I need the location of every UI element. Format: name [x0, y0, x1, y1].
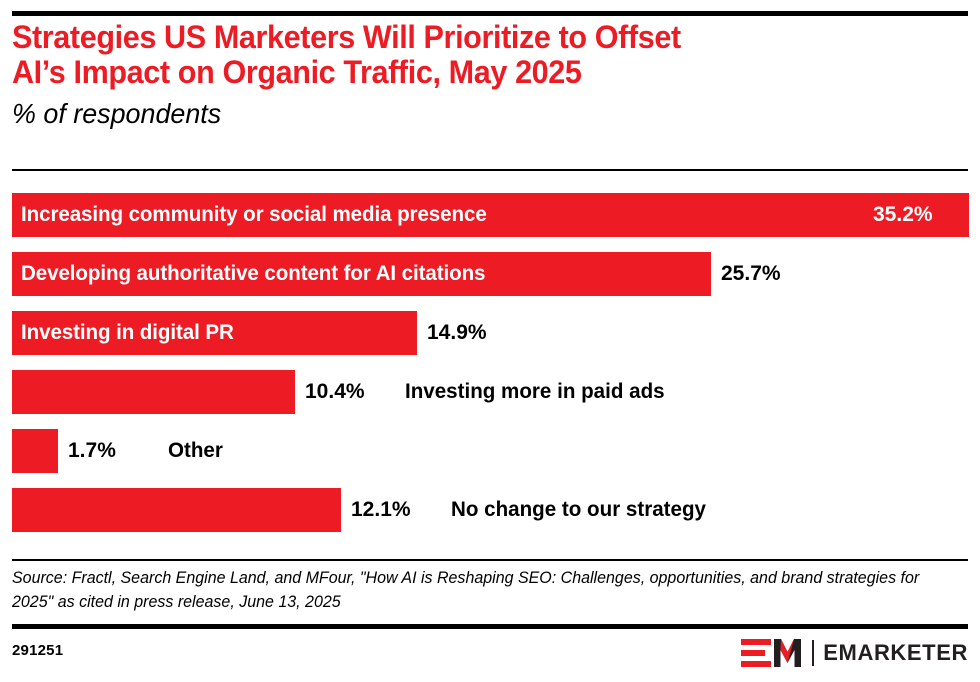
bar-category-label: Developing authoritative content for AI …	[21, 252, 485, 296]
logo-wordmark: EMARKETER	[823, 642, 968, 664]
bar-segment[interactable]	[12, 429, 58, 473]
bar-value-label: 25.7%	[721, 252, 781, 296]
bar-value-label: 12.1%	[351, 488, 411, 532]
bar-category-label: Investing more in paid ads	[405, 370, 665, 414]
bar-row[interactable]: Developing authoritative content for AI …	[12, 252, 968, 296]
bar-value-label: 1.7%	[68, 429, 116, 473]
bar-row[interactable]: 12.1%No change to our strategy	[12, 488, 968, 532]
bar-value-label: 10.4%	[305, 370, 365, 414]
bar-segment[interactable]	[12, 488, 341, 532]
bar-row[interactable]: 1.7%Other	[12, 429, 968, 473]
bar-category-label: Investing in digital PR	[21, 311, 234, 355]
bar-row[interactable]: 10.4%Investing more in paid ads	[12, 370, 968, 414]
source-divider	[12, 559, 968, 561]
bar-category-label: Increasing community or social media pre…	[21, 193, 487, 237]
bar-category-label: No change to our strategy	[451, 488, 706, 532]
bar-segment[interactable]	[12, 370, 295, 414]
bar-row[interactable]: Investing in digital PR14.9%	[12, 311, 968, 355]
em-monogram-icon	[741, 639, 803, 667]
source-note: Source: Fractl, Search Engine Land, and …	[12, 566, 934, 614]
bar-category-label: Other	[168, 429, 223, 473]
logo-divider	[812, 640, 814, 666]
bar-value-label: 35.2%	[873, 193, 933, 237]
bar-row[interactable]: Increasing community or social media pre…	[12, 193, 968, 237]
chart-page: Strategies US Marketers Will Prioritize …	[0, 0, 980, 682]
chart-id: 291251	[12, 642, 63, 659]
emarketer-logo: EMARKETER	[741, 638, 968, 668]
bar-value-label: 14.9%	[427, 311, 487, 355]
footer-rule	[12, 624, 968, 629]
